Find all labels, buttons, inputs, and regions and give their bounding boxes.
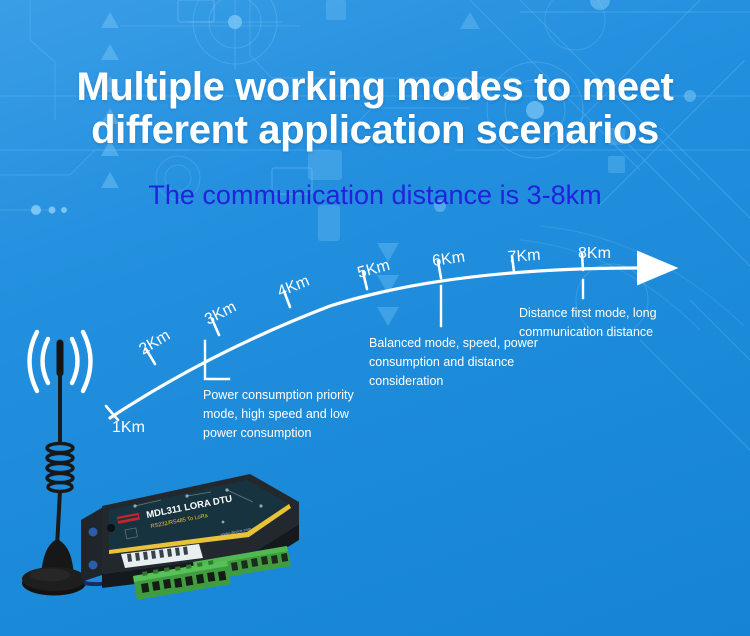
callout-balanced-mode: Balanced mode, speed, power consumption …: [369, 334, 539, 391]
callout-power-consumption: Power consumption priority mode, high sp…: [203, 386, 368, 443]
product-device-illustration: MDL311 LORA DTU RS232/RS485 To LoRa www.…: [75, 462, 305, 607]
antenna-base-highlight: [30, 569, 70, 582]
antenna-connector: [107, 524, 115, 532]
callout-distance-first: Distance first mode, long communication …: [519, 304, 699, 342]
tick-label-5km: 5Km: [356, 257, 392, 282]
tick-label-8km: 8Km: [578, 245, 611, 262]
tick-label-7km: 7Km: [507, 247, 541, 266]
bracket-screw-lower: [89, 561, 98, 570]
device-bracket: [81, 506, 105, 582]
infographic-banner: Multiple working modes to meet different…: [0, 0, 750, 636]
antenna-rod-lower: [57, 491, 60, 547]
tick-label-3km: 3Km: [202, 298, 239, 328]
bracket-screw-upper: [89, 528, 98, 537]
antenna-coil: [47, 443, 73, 491]
tick-label-2km: 2Km: [136, 327, 173, 359]
tick-label-4km: 4Km: [275, 273, 312, 301]
tick-label-6km: 6Km: [431, 249, 466, 270]
